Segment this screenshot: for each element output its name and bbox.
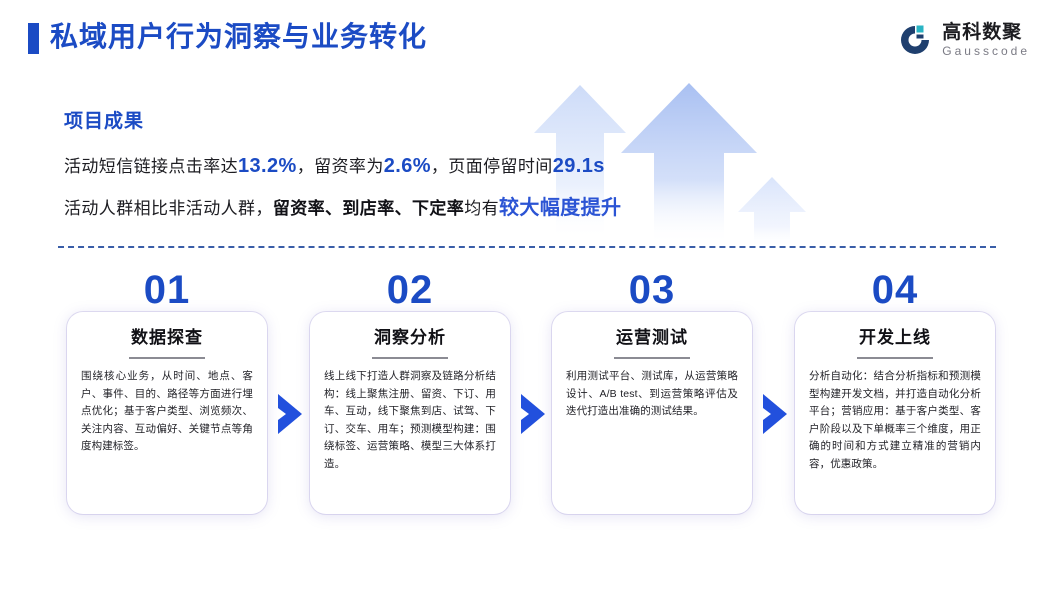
step-body-2: 线上线下打造人群洞察及链路分析结构：线上聚焦注册、留资、下订、用车、互动，线下聚… — [324, 368, 496, 473]
results-line2-highlight: 较大幅度提升 — [499, 197, 621, 219]
results-line1-seg2: ，留资率为 — [297, 157, 384, 176]
results-line2-metrics: 留资率、到店率、下定率 — [273, 199, 464, 218]
results-heading: 项目成果 — [64, 108, 784, 136]
step-card-2[interactable]: 02 洞察分析 线上线下打造人群洞察及链路分析结构：线上聚焦注册、留资、下订、用… — [310, 312, 510, 514]
step-body-4: 分析自动化：结合分析指标和预测模型构建开发文档，并打造自动化分析平台；营销应用：… — [809, 368, 981, 473]
metric-click-rate: 13.2% — [238, 155, 297, 177]
slide-root: 私域用户行为洞察与业务转化 高科数聚 Gausscode 项目成果 活动短信链接… — [0, 0, 1048, 591]
step-rule-2 — [372, 357, 448, 359]
step-body-1: 围绕核心业务，从时间、地点、客户、事件、目的、路径等方面进行埋点优化；基于客户类… — [81, 368, 253, 456]
step-card-3[interactable]: 03 运营测试 利用测试平台、测试库，从运营策略设计、A/B test、到运营策… — [552, 312, 752, 514]
results-line1-seg1: 活动短信链接点击率达 — [64, 157, 238, 176]
results-line2-seg1: 活动人群相比非活动人群， — [64, 199, 273, 218]
logo-text-en: Gausscode — [942, 44, 1030, 59]
step-title-4: 开发上线 — [795, 326, 995, 350]
metric-lead-rate: 2.6% — [384, 155, 431, 177]
step-number-3: 03 — [552, 268, 752, 312]
results-line-1: 活动短信链接点击率达13.2%，留资率为2.6%，页面停留时间29.1s — [64, 153, 784, 180]
step-number-4: 04 — [795, 268, 995, 312]
step-title-3: 运营测试 — [552, 326, 752, 350]
results-line-2: 活动人群相比非活动人群，留资率、到店率、下定率均有较大幅度提升 — [64, 195, 784, 222]
chevron-right-icon-3 — [757, 392, 793, 436]
step-rule-4 — [857, 357, 933, 359]
gausscode-logo-icon — [897, 22, 933, 58]
step-body-3: 利用测试平台、测试库，从运营策略设计、A/B test、到运营策略评估及迭代打造… — [566, 368, 738, 421]
chevron-right-icon-1 — [272, 392, 308, 436]
section-divider — [58, 246, 996, 248]
step-title-1: 数据探查 — [67, 326, 267, 350]
metric-dwell-time: 29.1s — [553, 155, 605, 177]
step-rule-1 — [129, 357, 205, 359]
logo-text-cn: 高科数聚 — [942, 22, 1030, 44]
process-steps: 01 数据探查 围绕核心业务，从时间、地点、客户、事件、目的、路径等方面进行埋点… — [0, 270, 1048, 530]
step-number-1: 01 — [67, 268, 267, 312]
header: 私域用户行为洞察与业务转化 高科数聚 Gausscode — [0, 0, 1048, 80]
project-results-block: 项目成果 活动短信链接点击率达13.2%，留资率为2.6%，页面停留时间29.1… — [64, 108, 784, 222]
title-accent-bar — [28, 23, 39, 54]
results-line1-seg3: ，页面停留时间 — [431, 157, 553, 176]
step-number-2: 02 — [310, 268, 510, 312]
brand-logo: 高科数聚 Gausscode — [897, 17, 1030, 63]
chevron-right-icon-2 — [515, 392, 551, 436]
step-card-1[interactable]: 01 数据探查 围绕核心业务，从时间、地点、客户、事件、目的、路径等方面进行埋点… — [67, 312, 267, 514]
step-card-4[interactable]: 04 开发上线 分析自动化：结合分析指标和预测模型构建开发文档，并打造自动化分析… — [795, 312, 995, 514]
results-line2-seg2: 均有 — [464, 199, 499, 218]
page-title: 私域用户行为洞察与业务转化 — [50, 17, 427, 57]
step-title-2: 洞察分析 — [310, 326, 510, 350]
step-rule-3 — [614, 357, 690, 359]
